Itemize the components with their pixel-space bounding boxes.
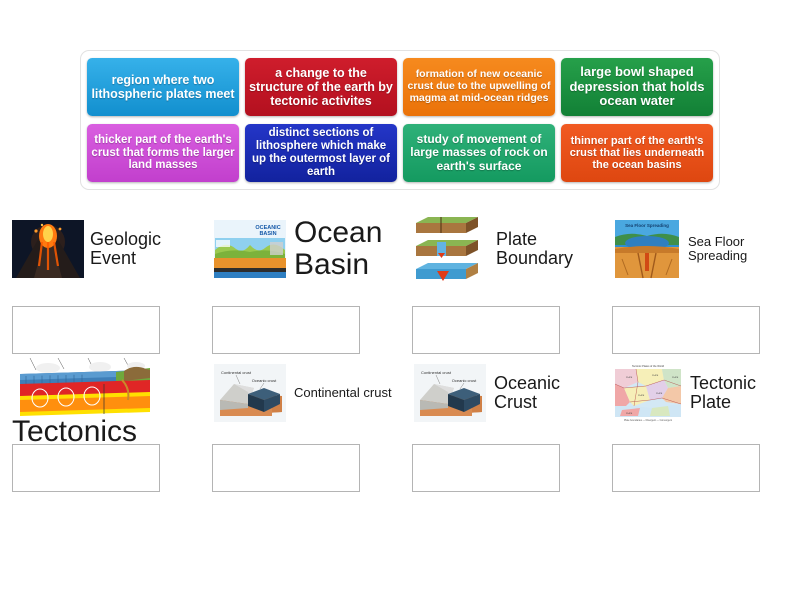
- word-card-large-bowl-shaped-depression[interactable]: large bowl shaped depression that holds …: [561, 58, 713, 116]
- word-card-thinner-part-of-the-earths-crust[interactable]: thinner part of the earth's crust that l…: [561, 124, 713, 182]
- drop-zone-tectonic-plate[interactable]: [612, 444, 760, 492]
- svg-text:PLATE: PLATE: [672, 376, 679, 379]
- item-label: Tectonic Plate: [690, 374, 800, 413]
- items-grid: Geologic Event OCEANIC BASIN: [0, 210, 800, 492]
- svg-text:Sea Floor Spreading: Sea Floor Spreading: [625, 223, 669, 228]
- oceanic-basin-diagram-image: OCEANIC BASIN: [212, 218, 288, 280]
- drop-zone-geologic-event[interactable]: [12, 306, 160, 354]
- svg-text:BASIN: BASIN: [259, 231, 276, 237]
- item-label: Plate Boundary: [496, 230, 600, 269]
- svg-text:PLATE: PLATE: [638, 394, 645, 397]
- word-card-study-of-movement-of-large-masses[interactable]: study of movement of large masses of roc…: [403, 124, 555, 182]
- svg-text:Plate boundaries — Divergent: Plate boundaries — Divergent — Convergen…: [624, 419, 672, 422]
- sea-floor-spreading-image: Sea Floor Spreading: [612, 219, 682, 279]
- item-continental-crust: Continental crust Oceanic crust: [200, 354, 400, 492]
- drop-zone-oceanic-crust[interactable]: [412, 444, 560, 492]
- item-header: Tectonics: [12, 354, 200, 432]
- item-label: Ocean Basin: [294, 217, 400, 282]
- word-bank-row-1: region where two lithospheric plates mee…: [87, 58, 713, 116]
- item-geologic-event: Geologic Event: [0, 210, 200, 354]
- svg-text:PLATE: PLATE: [626, 412, 633, 415]
- item-row-1: Geologic Event OCEANIC BASIN: [0, 210, 800, 354]
- item-header: Plate Boundary: [412, 210, 600, 288]
- svg-text:Oceanic crust: Oceanic crust: [252, 378, 277, 383]
- item-row-2: Tectonics Continental crust Oceanic crus…: [0, 354, 800, 492]
- svg-text:PLATE: PLATE: [652, 374, 659, 377]
- item-header: Tectonic Plates of the World: [612, 354, 800, 432]
- drop-zone-tectonics[interactable]: [12, 444, 160, 492]
- word-card-distinct-sections-of-lithosphere[interactable]: distinct sections of lithosphere which m…: [245, 124, 397, 182]
- continental-crust-block-image: Continental crust Oceanic crust: [212, 362, 288, 424]
- item-label: Sea Floor Spreading: [688, 235, 800, 263]
- item-header: OCEANIC BASIN Ocean Basin: [212, 210, 400, 288]
- item-plate-boundary: Plate Boundary: [400, 210, 600, 354]
- tectonic-plate-map-image: Tectonic Plates of the World: [612, 362, 684, 424]
- word-bank-row-2: thicker part of the earth's crust that f…: [87, 124, 713, 182]
- item-header: Continental crust Oceanic crust: [412, 354, 600, 432]
- volcano-eruption-image: [12, 220, 84, 278]
- item-label: Tectonics: [12, 416, 137, 448]
- drop-zone-ocean-basin[interactable]: [212, 306, 360, 354]
- item-label: Oceanic Crust: [494, 374, 600, 413]
- plate-boundary-blocks-image: [412, 213, 490, 285]
- svg-text:PLATE: PLATE: [626, 376, 633, 379]
- word-card-thicker-part-of-the-earths-crust[interactable]: thicker part of the earth's crust that f…: [87, 124, 239, 182]
- oceanic-crust-block-image: Continental crust Oceanic crust: [412, 362, 488, 424]
- svg-text:Oceanic crust: Oceanic crust: [452, 378, 477, 383]
- tectonics-cross-section-image: [12, 354, 157, 416]
- svg-text:Tectonic Plates of the World: Tectonic Plates of the World: [632, 364, 665, 368]
- svg-text:PLATE: PLATE: [656, 392, 663, 395]
- drop-zone-plate-boundary[interactable]: [412, 306, 560, 354]
- svg-text:Continental crust: Continental crust: [421, 370, 452, 375]
- word-card-region-where-two-lithospheric-plates-meet[interactable]: region where two lithospheric plates mee…: [87, 58, 239, 116]
- drop-zone-continental-crust[interactable]: [212, 444, 360, 492]
- item-label: Geologic Event: [90, 230, 200, 269]
- item-oceanic-crust: Continental crust Oceanic crust: [400, 354, 600, 492]
- drop-zone-sea-floor-spreading[interactable]: [612, 306, 760, 354]
- item-tectonic-plate: Tectonic Plates of the World: [600, 354, 800, 492]
- svg-text:Continental crust: Continental crust: [221, 370, 252, 375]
- item-label: Continental crust: [294, 386, 392, 400]
- item-sea-floor-spreading: Sea Floor Spreading Sea Floor Spreading: [600, 210, 800, 354]
- item-header: Geologic Event: [12, 210, 200, 288]
- item-header: Continental crust Oceanic crust: [212, 354, 400, 432]
- word-bank-container: region where two lithospheric plates mee…: [80, 50, 720, 190]
- item-header: Sea Floor Spreading Sea Floor Spreading: [612, 210, 800, 288]
- item-tectonics: Tectonics: [0, 354, 200, 492]
- word-card-formation-of-new-oceanic-crust[interactable]: formation of new oceanic crust due to th…: [403, 58, 555, 116]
- item-ocean-basin: OCEANIC BASIN Ocean Basin: [200, 210, 400, 354]
- word-card-a-change-to-the-structure-of-the-earth[interactable]: a change to the structure of the earth b…: [245, 58, 397, 116]
